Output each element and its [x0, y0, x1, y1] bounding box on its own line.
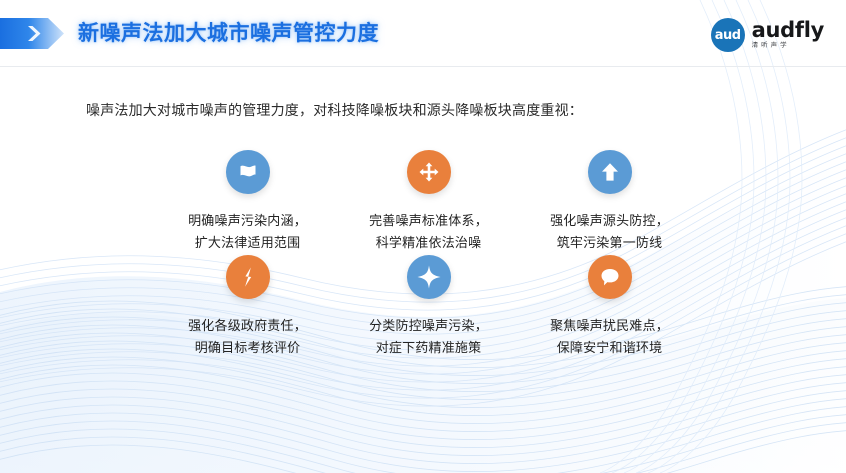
feature-card-text: 强化各级政府责任， 明确目标考核评价: [188, 315, 307, 361]
arrow-up-icon: [588, 150, 632, 194]
logo-subtitle: 清听声学: [752, 43, 824, 49]
flag-icon: [226, 150, 270, 194]
feature-card-text: 完善噪声标准体系， 科学精准依法治噪: [369, 210, 488, 256]
feature-card: 强化各级政府责任， 明确目标考核评价: [160, 255, 335, 360]
brand-logo: aud audfly 清听声学: [711, 18, 824, 52]
sparkle-star-icon: [407, 255, 451, 299]
feature-card: 聚焦噪声扰民难点， 保障安宁和谐环境: [522, 255, 697, 360]
feature-card-line2: 扩大法律适用范围: [188, 232, 307, 255]
feature-card-line2: 筑牢污染第一防线: [550, 232, 669, 255]
page-title: 新噪声法加大城市噪声管控力度: [78, 17, 379, 47]
feature-card-line2: 明确目标考核评价: [188, 337, 307, 360]
feature-card-line2: 保障安宁和谐环境: [550, 337, 669, 360]
feature-card: 明确噪声污染内涵， 扩大法律适用范围: [160, 150, 335, 255]
slide-header: 新噪声法加大城市噪声管控力度 aud audfly 清听声学: [0, 0, 846, 66]
intro-text: 噪声法加大对城市噪声的管理力度，对科技降噪板块和源头降噪板块高度重视：: [86, 100, 583, 120]
feature-card: 分类防控噪声污染， 对症下药精准施策: [341, 255, 516, 360]
feature-card-line1: 强化各级政府责任，: [188, 315, 307, 338]
slide-canvas: 新噪声法加大城市噪声管控力度 aud audfly 清听声学 噪声法加大对城市噪…: [0, 0, 846, 473]
feature-card-line1: 强化噪声源头防控，: [550, 210, 669, 233]
chevron-right-banner-icon: [0, 18, 64, 49]
feature-card-text: 聚焦噪声扰民难点， 保障安宁和谐环境: [550, 315, 669, 361]
feature-card-line1: 明确噪声污染内涵，: [188, 210, 307, 233]
lightning-bolt-icon: [226, 255, 270, 299]
feature-card-text: 强化噪声源头防控， 筑牢污染第一防线: [550, 210, 669, 256]
logo-mark-text: aud: [715, 29, 741, 42]
logo-wordmark-group: audfly 清听声学: [752, 20, 824, 50]
feature-card-line1: 分类防控噪声污染，: [369, 315, 488, 338]
feature-card-line1: 完善噪声标准体系，: [369, 210, 488, 233]
feature-card-line2: 对症下药精准施策: [369, 337, 488, 360]
logo-circle-mark: aud: [711, 18, 745, 52]
header-divider: [0, 66, 846, 67]
speech-bubble-icon: [588, 255, 632, 299]
move-arrows-icon: [407, 150, 451, 194]
feature-card-line2: 科学精准依法治噪: [369, 232, 488, 255]
feature-card-grid: 明确噪声污染内涵， 扩大法律适用范围 完善噪声标准体系， 科学精准依法治噪: [160, 150, 720, 360]
feature-card-line1: 聚焦噪声扰民难点，: [550, 315, 669, 338]
feature-card-text: 明确噪声污染内涵， 扩大法律适用范围: [188, 210, 307, 256]
feature-card: 强化噪声源头防控， 筑牢污染第一防线: [522, 150, 697, 255]
logo-wordmark: audfly: [752, 20, 824, 41]
feature-card-text: 分类防控噪声污染， 对症下药精准施策: [369, 315, 488, 361]
feature-card: 完善噪声标准体系， 科学精准依法治噪: [341, 150, 516, 255]
